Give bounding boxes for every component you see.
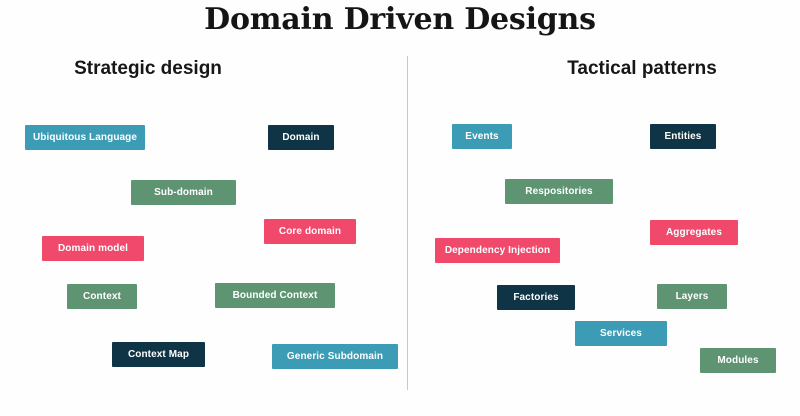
- node-modules[interactable]: Modules: [700, 348, 776, 373]
- diagram-canvas: Domain Driven Designs Strategic design T…: [0, 0, 800, 416]
- node-services[interactable]: Services: [575, 321, 667, 346]
- node-context[interactable]: Context: [67, 284, 137, 309]
- node-sub-domain[interactable]: Sub-domain: [131, 180, 236, 205]
- node-respositories[interactable]: Respositories: [505, 179, 613, 204]
- column-heading-strategic: Strategic design: [74, 58, 222, 80]
- node-domain-model[interactable]: Domain model: [42, 236, 144, 261]
- node-ubiquitous-language[interactable]: Ubiquitous Language: [25, 125, 145, 150]
- node-aggregates[interactable]: Aggregates: [650, 220, 738, 245]
- column-heading-tactical: Tactical patterns: [567, 58, 717, 80]
- node-dependency-injection[interactable]: Dependency Injection: [435, 238, 560, 263]
- node-events[interactable]: Events: [452, 124, 512, 149]
- node-domain[interactable]: Domain: [268, 125, 334, 150]
- node-context-map[interactable]: Context Map: [112, 342, 205, 367]
- node-factories[interactable]: Factories: [497, 285, 575, 310]
- node-generic-subdomain[interactable]: Generic Subdomain: [272, 344, 398, 369]
- node-layers[interactable]: Layers: [657, 284, 727, 309]
- node-core-domain[interactable]: Core domain: [264, 219, 356, 244]
- column-divider: [407, 56, 408, 390]
- page-title: Domain Driven Designs: [0, 2, 800, 37]
- node-bounded-context[interactable]: Bounded Context: [215, 283, 335, 308]
- node-entities[interactable]: Entities: [650, 124, 716, 149]
